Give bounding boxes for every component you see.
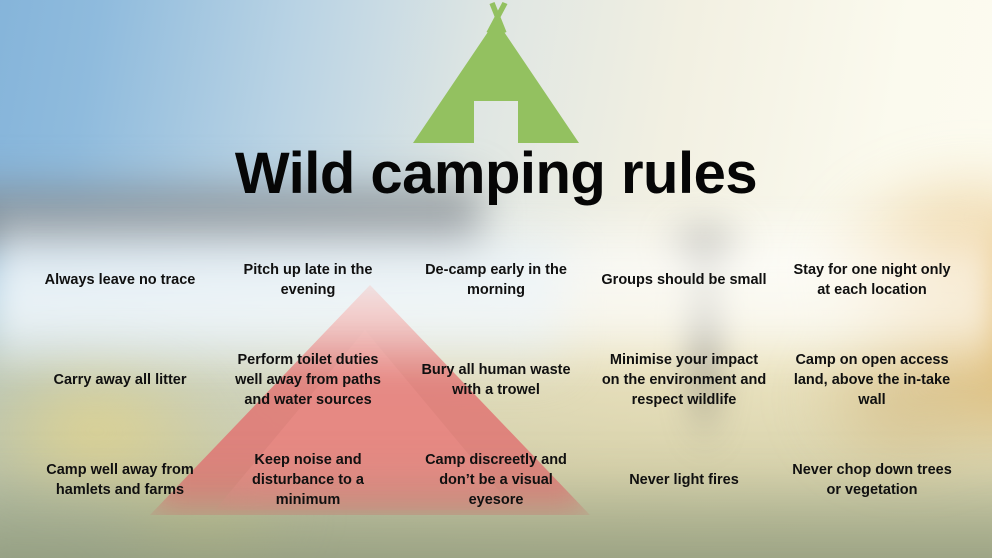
rule-text: Camp discreetly and don’t be a visual ey… [412,450,580,510]
rule-text: Always leave no trace [45,270,196,290]
rule-item-15: Never chop down trees or vegetation [778,430,966,530]
rule-item-13: Camp discreetly and don’t be a visual ey… [402,430,590,530]
page-title: Wild camping rules [0,143,992,206]
rules-grid: Always leave no trace Pitch up late in t… [26,230,966,530]
rule-item-9: Minimise your impact on the environment … [590,330,778,430]
rule-text: Camp on open access land, above the in-t… [788,350,956,410]
rule-item-5: Stay for one night only at each location [778,230,966,330]
rule-item-3: De-camp early in the morning [402,230,590,330]
rule-text: De-camp early in the morning [412,260,580,300]
rule-item-10: Camp on open access land, above the in-t… [778,330,966,430]
rule-text: Camp well away from hamlets and farms [36,460,204,500]
rule-text: Carry away all litter [54,370,187,390]
rule-item-12: Keep noise and disturbance to a minimum [214,430,402,530]
rule-text: Never chop down trees or vegetation [788,460,956,500]
rule-text: Stay for one night only at each location [788,260,956,300]
rule-text: Bury all human waste with a trowel [412,360,580,400]
rule-item-14: Never light fires [590,430,778,530]
rule-item-7: Perform toilet duties well away from pat… [214,330,402,430]
poster-content: Wild camping rules Always leave no trace… [0,0,992,558]
rule-text: Minimise your impact on the environment … [600,350,768,410]
poster-canvas: Wild camping rules Always leave no trace… [0,0,992,558]
rule-item-8: Bury all human waste with a trowel [402,330,590,430]
rule-text: Never light fires [629,470,739,490]
rule-text: Groups should be small [601,270,766,290]
rule-item-11: Camp well away from hamlets and farms [26,430,214,530]
rule-item-6: Carry away all litter [26,330,214,430]
tent-icon [413,2,579,147]
rule-item-4: Groups should be small [590,230,778,330]
rule-text: Keep noise and disturbance to a minimum [224,450,392,510]
rule-text: Pitch up late in the evening [224,260,392,300]
rule-item-2: Pitch up late in the evening [214,230,402,330]
rule-text: Perform toilet duties well away from pat… [224,350,392,410]
rule-item-1: Always leave no trace [26,230,214,330]
